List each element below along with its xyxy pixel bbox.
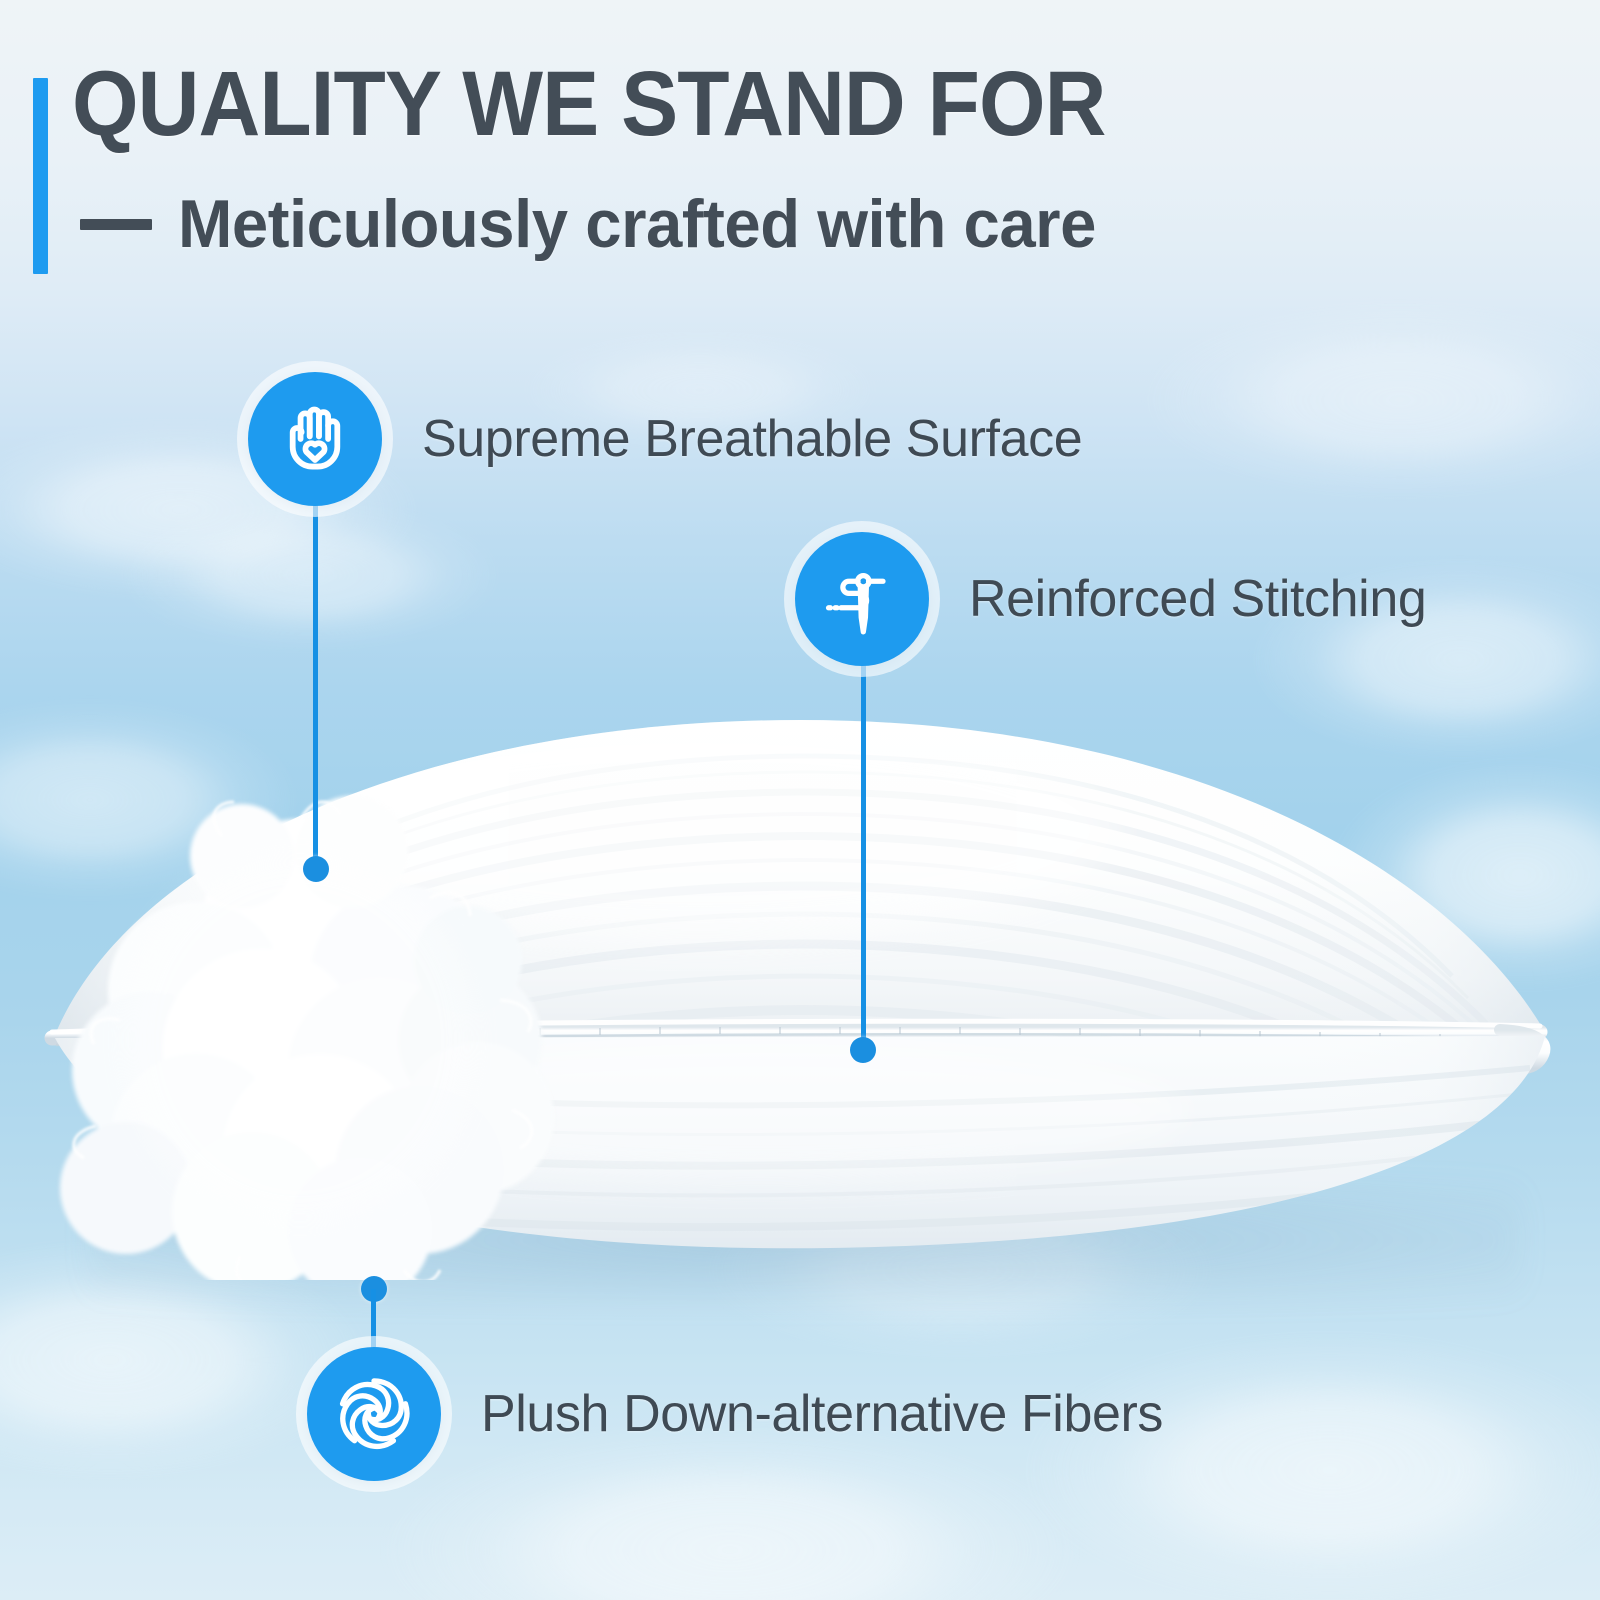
page-subtitle: Meticulously crafted with care: [178, 185, 1096, 263]
product-image: [0, 640, 1600, 1280]
feature-down-alternative-fibers[interactable]: Plush Down-alternative Fibers: [307, 1347, 1163, 1481]
badge-needle-thread: [795, 532, 929, 666]
subtitle-row: Meticulously crafted with care: [80, 185, 1134, 263]
callout-line-2: [861, 665, 866, 1048]
callout-line-1: [313, 505, 318, 870]
callout-dot-1: [303, 856, 329, 882]
page-title: QUALITY WE STAND FOR: [72, 58, 1105, 150]
badge-fiber-swirl: [307, 1347, 441, 1481]
feature-label: Plush Down-alternative Fibers: [481, 1384, 1163, 1444]
feature-breathable-surface[interactable]: Supreme Breathable Surface: [248, 372, 1082, 506]
accent-bar: [33, 78, 48, 274]
feature-label: Supreme Breathable Surface: [422, 409, 1082, 469]
needle-thread-icon: [820, 557, 904, 641]
fiber-swirl-icon: [328, 1368, 420, 1460]
feature-label: Reinforced Stitching: [969, 569, 1426, 629]
feature-reinforced-stitching[interactable]: Reinforced Stitching: [795, 532, 1426, 666]
em-dash-rule: [80, 219, 152, 230]
callout-dot-2: [850, 1037, 876, 1063]
badge-hand-heart: [248, 372, 382, 506]
product-feature-infographic: QUALITY WE STAND FOR Meticulously crafte…: [0, 0, 1600, 1600]
hand-heart-icon: [273, 397, 357, 481]
